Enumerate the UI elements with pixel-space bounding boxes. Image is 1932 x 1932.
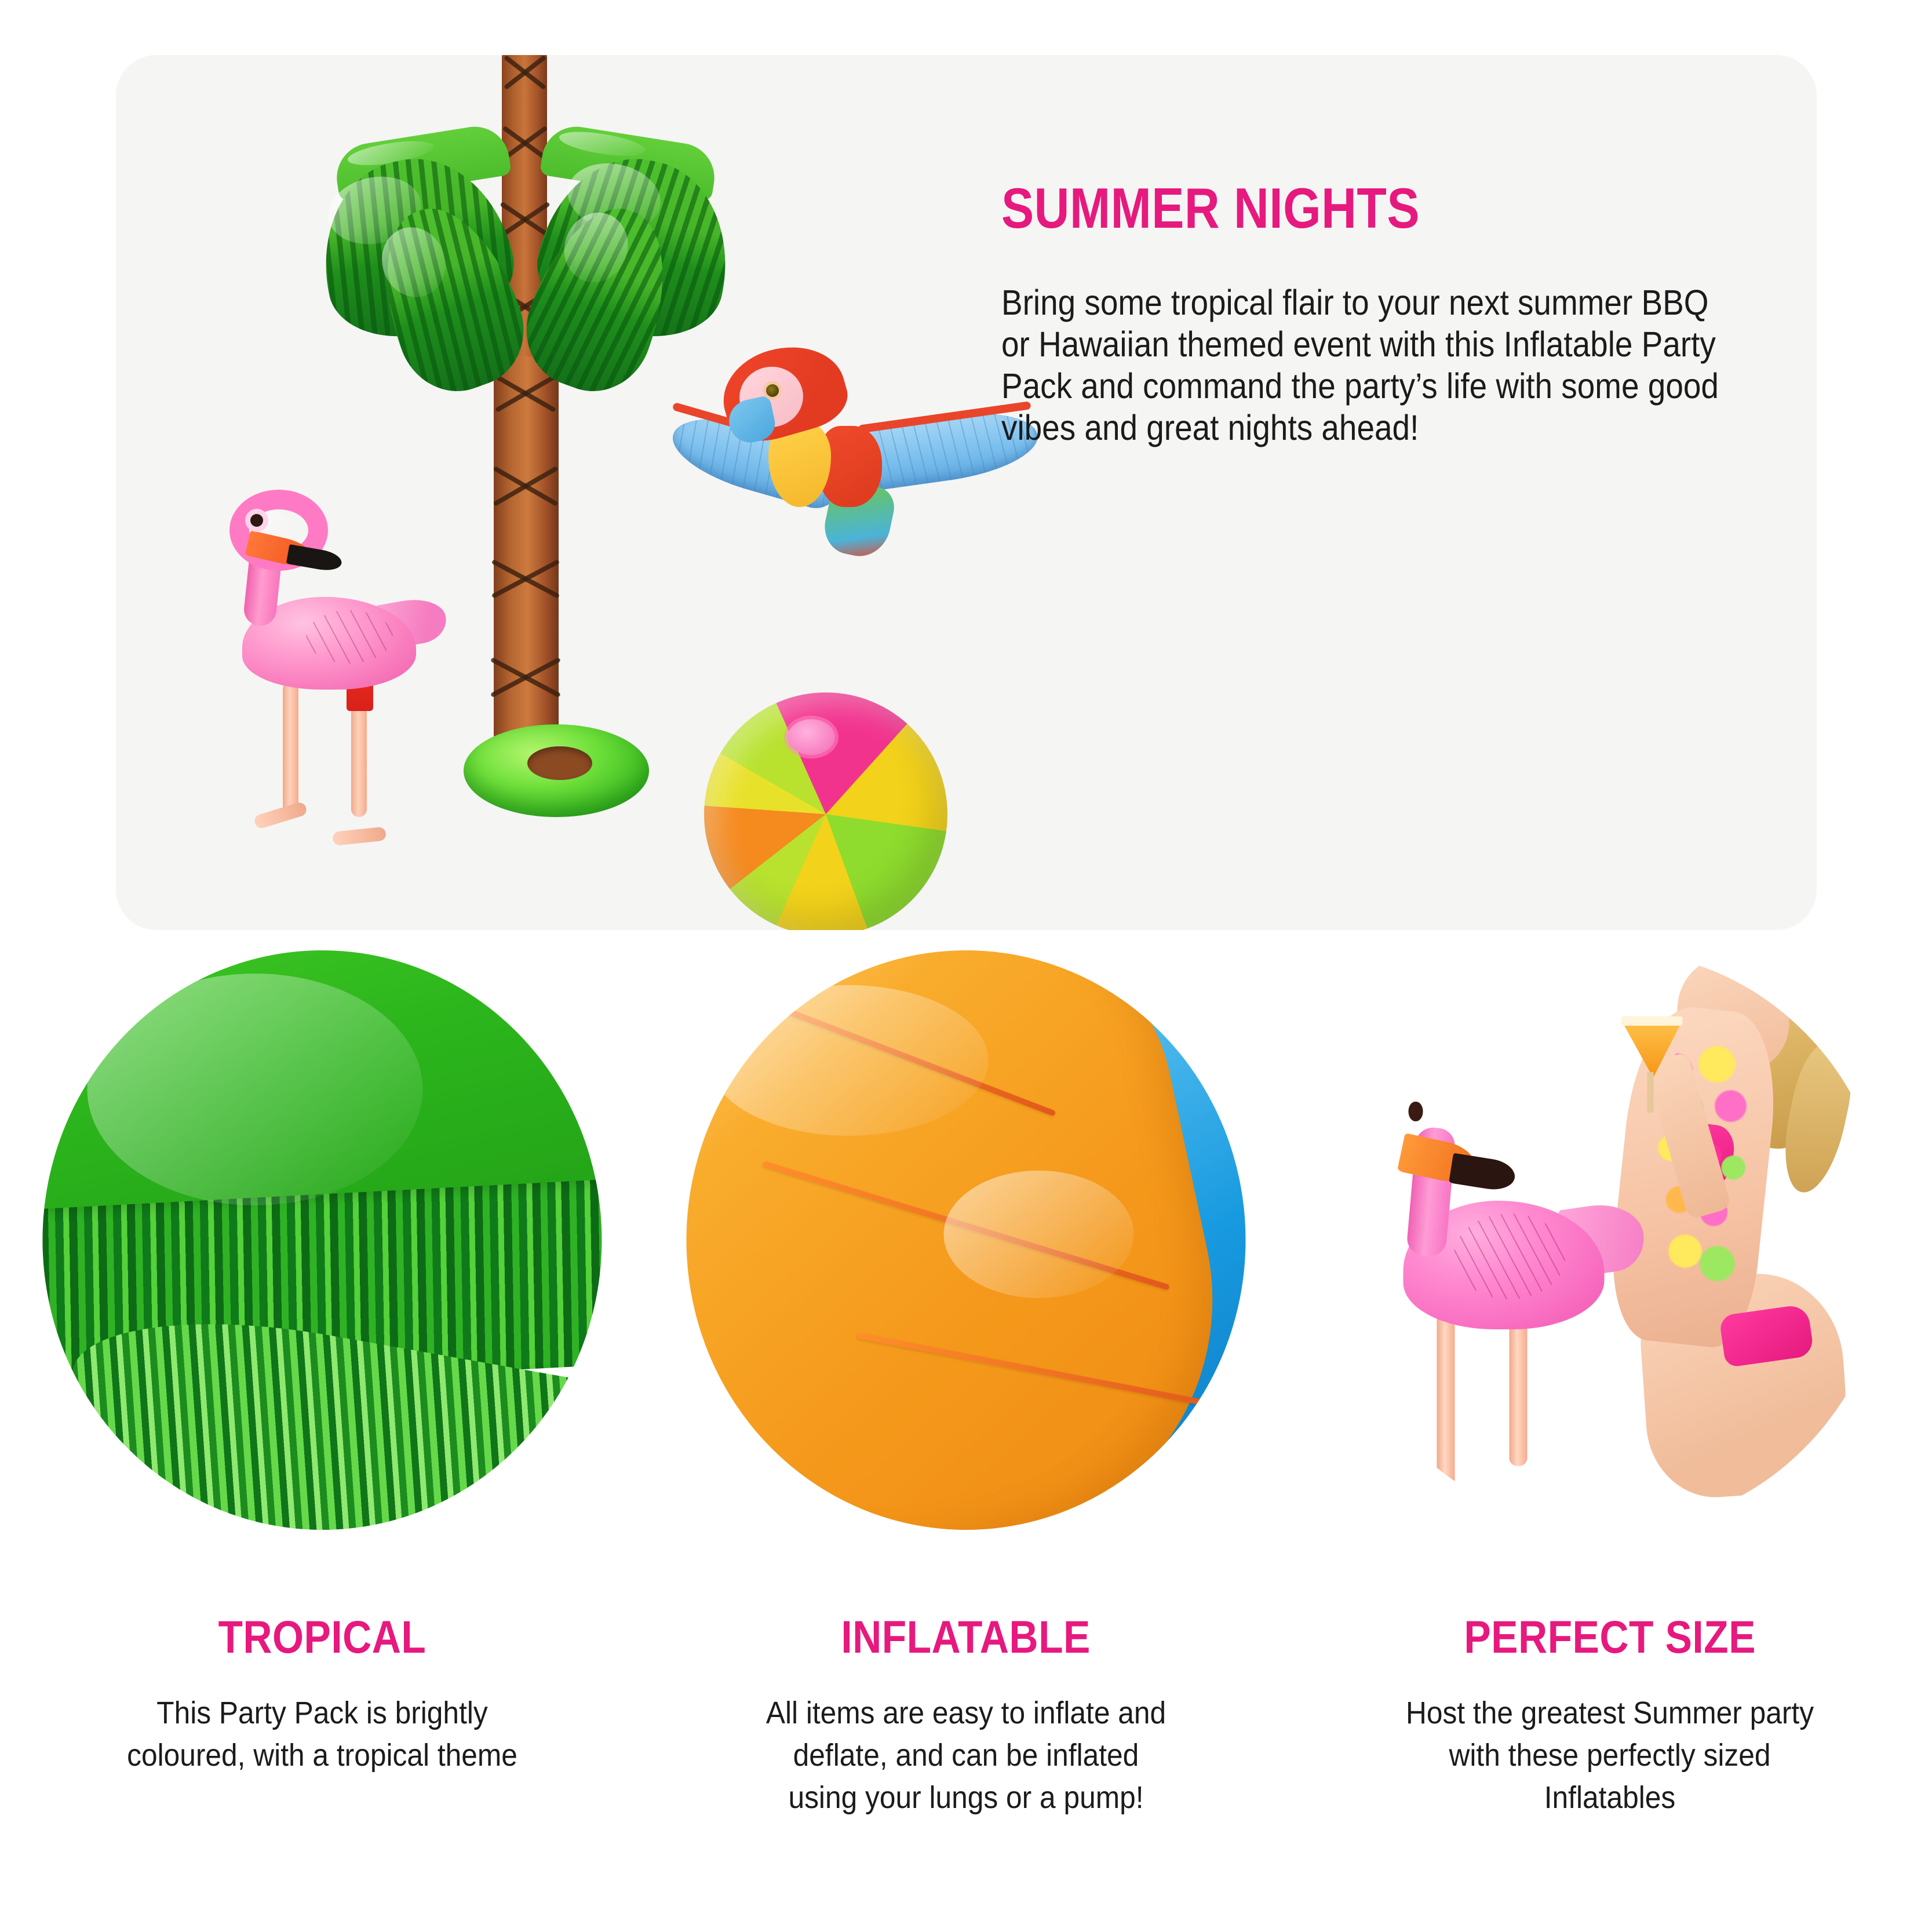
plastic-gloss-highlight (709, 985, 989, 1136)
beach-ball-valve-cap (788, 719, 835, 755)
feature-title-perfect-size: PERFECT SIZE (1288, 1614, 1932, 1660)
flamingo-beak-tip (1449, 1153, 1517, 1193)
flamingo-eye (1409, 1102, 1423, 1121)
palm-tree-base-ring (464, 724, 649, 817)
flamingo-leg (1437, 1303, 1455, 1492)
parrot-eye (766, 384, 779, 397)
feature-card-perfect-size: PERFECT SIZE Host the greatest Summer pa… (1288, 950, 1932, 1932)
cocktail-glass-stem (1647, 1072, 1654, 1113)
flamingo-wing-detail (306, 610, 393, 664)
hero-product-image (116, 55, 985, 930)
flamingo-foot (253, 801, 308, 830)
flamingo-leg (283, 681, 298, 817)
feature-title-inflatable: INFLATABLE (644, 1614, 1288, 1660)
plastic-gloss-highlight (943, 1171, 1133, 1298)
page-title: SUMMER NIGHTS (1001, 180, 1624, 236)
flamingo-foot (332, 826, 387, 845)
feature-title-tropical: TROPICAL (0, 1614, 644, 1660)
flamingo-beak-tip (286, 544, 343, 573)
flamingo-eye (250, 514, 263, 527)
feature-image-inflatable (686, 950, 1245, 1530)
feature-text-perfect-size: Host the greatest Summer party with thes… (1384, 1692, 1836, 1819)
hero-description: Bring some tropical flair to your next s… (1001, 282, 1721, 449)
feature-card-tropical: TROPICAL This Party Pack is brightly col… (0, 950, 644, 1932)
hero-copy-block: SUMMER NIGHTS Bring some tropical flair … (1001, 180, 1726, 449)
feature-text-tropical: This Party Pack is brightly coloured, wi… (96, 1692, 548, 1777)
plastic-gloss-highlight (87, 974, 422, 1205)
flamingo-wing-detail (1453, 1213, 1565, 1299)
cocktail-glass-rim (1621, 1016, 1683, 1026)
parrot-inflatable (666, 339, 1037, 594)
feature-image-perfect-size (1330, 950, 1890, 1530)
beach-ball-inflatable (704, 692, 947, 930)
hero-panel: SUMMER NIGHTS Bring some tropical flair … (116, 55, 1817, 930)
feature-row: TROPICAL This Party Pack is brightly col… (0, 950, 1932, 1932)
flamingo-inflatable-closeup (1364, 1055, 1644, 1483)
feature-text-inflatable: All items are easy to inflate and deflat… (740, 1692, 1192, 1819)
feature-image-tropical (42, 950, 602, 1530)
feature-card-inflatable: INFLATABLE All items are easy to inflate… (644, 950, 1288, 1932)
flamingo-inflatable (219, 484, 468, 890)
palm-base-opening (527, 746, 592, 780)
palm-trunk-lower (494, 356, 559, 785)
